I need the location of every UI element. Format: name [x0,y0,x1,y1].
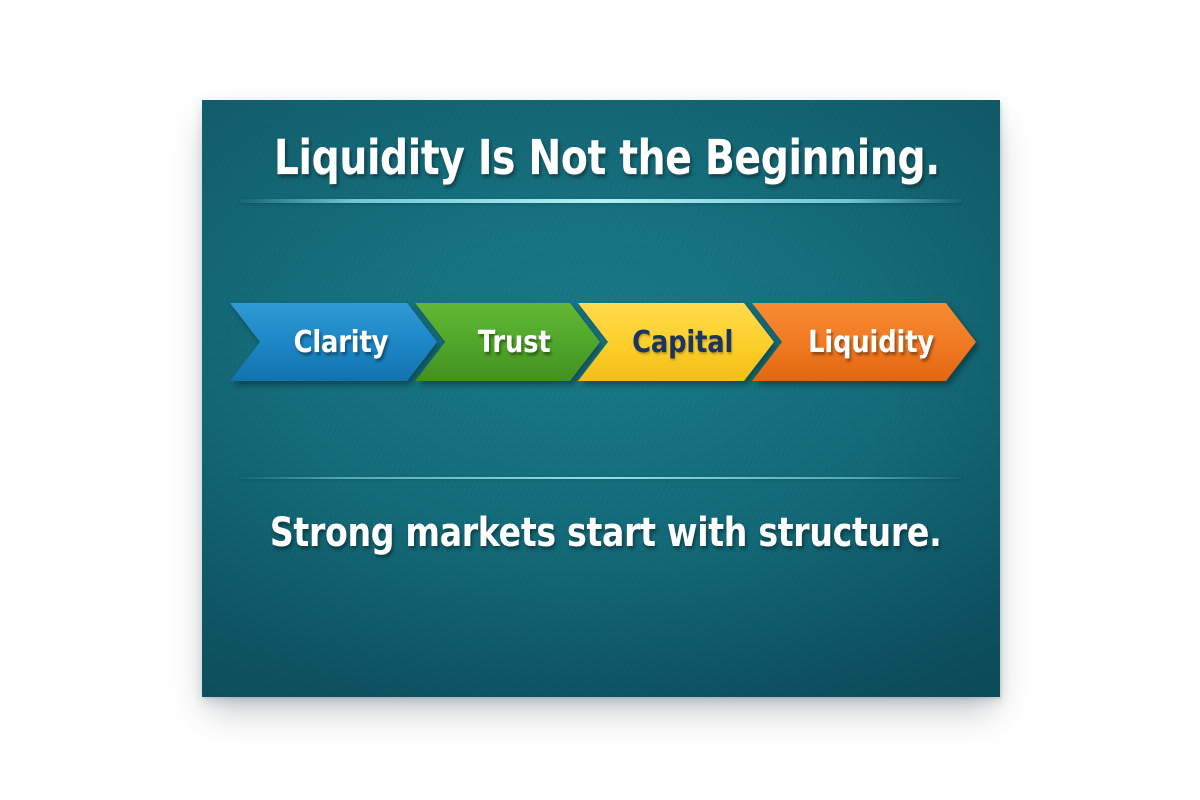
process-step-clarity[interactable]: Clarity [230,303,437,381]
process-step-label-capital: Capital [613,325,738,360]
process-step-trust[interactable]: Trust [415,303,600,381]
divider-bottom [240,477,962,479]
process-step-liquidity[interactable]: Liquidity [752,303,976,381]
slide-tagline: Strong markets start with structure. [270,510,932,556]
slide-canvas: Liquidity Is Not the Beginning. Clarity … [0,0,1200,800]
slide-card-content: Liquidity Is Not the Beginning. Clarity … [202,100,1000,697]
process-step-label-clarity: Clarity [274,325,393,360]
process-step-capital[interactable]: Capital [578,303,774,381]
process-step-label-trust: Trust [459,325,556,360]
slide-title: Liquidity Is Not the Beginning. [274,134,928,184]
slide-card: Liquidity Is Not the Beginning. Clarity … [202,100,1000,697]
divider-top [240,199,962,203]
process-step-label-liquidity: Liquidity [789,325,939,360]
process-flow-diagram: Clarity Trust Capital Liquidity [230,296,976,388]
